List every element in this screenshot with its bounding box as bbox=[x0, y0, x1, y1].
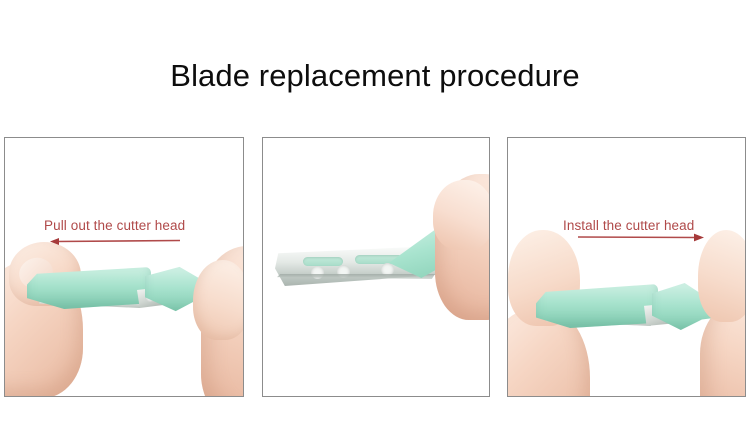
right-finger-illustration bbox=[193, 260, 244, 340]
peeler-head-illustration bbox=[27, 267, 151, 309]
panel-3-caption: Install the cutter head bbox=[563, 218, 694, 233]
procedure-panel-strip: Pull out the cutter head Install the cut… bbox=[0, 0, 750, 425]
blade-slot-icon bbox=[303, 257, 343, 266]
procedure-panel-2 bbox=[262, 137, 490, 397]
right-finger-illustration bbox=[698, 230, 746, 322]
procedure-panel-1 bbox=[4, 137, 244, 397]
arrow-right-icon bbox=[578, 232, 704, 243]
fingertip-illustration bbox=[433, 180, 490, 250]
procedure-panel-3 bbox=[507, 137, 746, 397]
arrow-left-icon bbox=[50, 236, 180, 247]
panel-1-caption: Pull out the cutter head bbox=[44, 218, 185, 233]
